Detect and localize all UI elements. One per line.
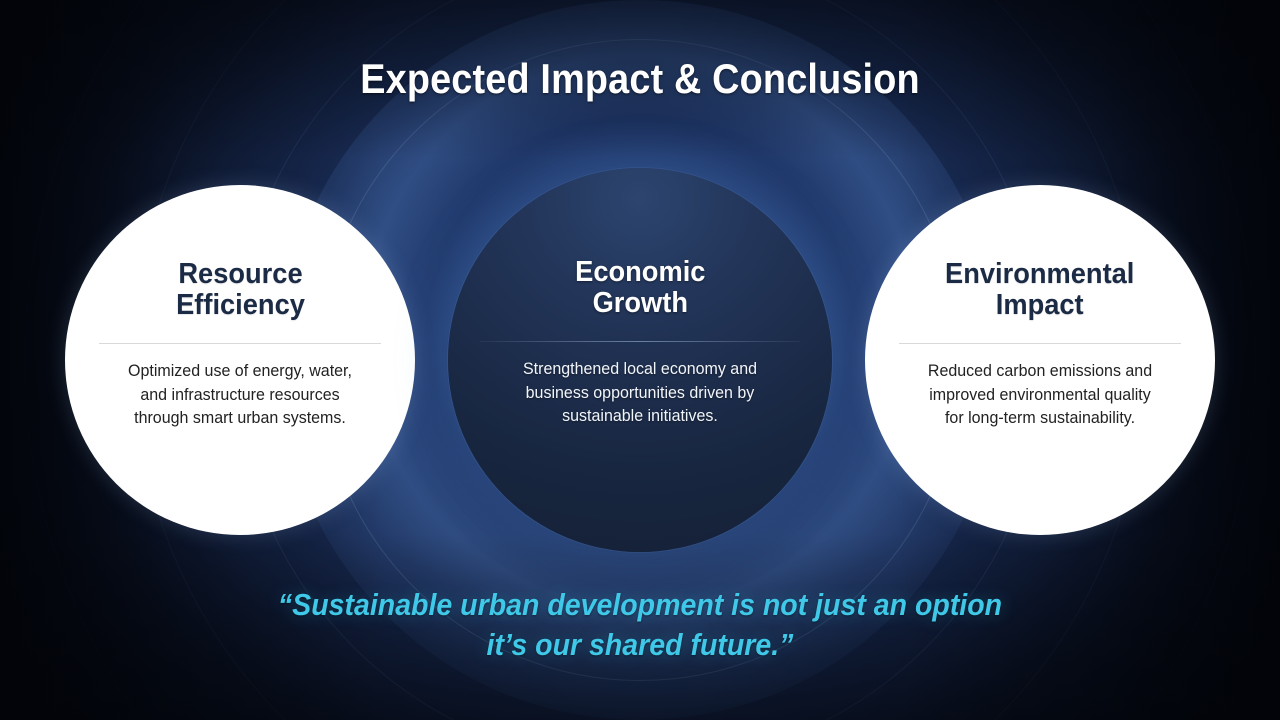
circle-divider-economic-growth — [480, 341, 800, 342]
circle-divider-resource-efficiency — [99, 343, 381, 344]
heading-line: Growth — [592, 287, 687, 319]
circle-body-economic-growth: Strengthened local economy and business … — [495, 358, 786, 430]
circle-body-resource-efficiency: Optimized use of energy, water, and infr… — [119, 360, 362, 432]
heading-line: Efficiency — [176, 289, 305, 321]
slide-canvas: Expected Impact & Conclusion Resource Ef… — [0, 0, 1280, 720]
heading-line: Resource — [178, 258, 302, 290]
quote-line-1: “Sustainable urban development is not ju… — [51, 585, 1229, 625]
heading-line: Environmental — [945, 258, 1134, 290]
circle-economic-growth[interactable]: Economic Growth Strengthened local econo… — [448, 168, 832, 552]
circle-resource-efficiency[interactable]: Resource Efficiency Optimized use of ene… — [65, 185, 415, 535]
heading-line: Impact — [996, 289, 1084, 321]
circle-body-environmental-impact: Reduced carbon emissions and improved en… — [919, 360, 1162, 432]
closing-quote: “Sustainable urban development is not ju… — [51, 585, 1229, 664]
quote-line-2: it’s our shared future.” — [51, 625, 1229, 665]
circle-heading-economic-growth: Economic Growth — [575, 257, 705, 320]
circle-heading-environmental-impact: Environmental Impact — [945, 259, 1134, 322]
circle-divider-environmental-impact — [899, 343, 1181, 344]
heading-line: Economic — [575, 256, 705, 288]
page-title: Expected Impact & Conclusion — [64, 55, 1216, 103]
circle-environmental-impact[interactable]: Environmental Impact Reduced carbon emis… — [865, 185, 1215, 535]
circle-heading-resource-efficiency: Resource Efficiency — [176, 259, 305, 322]
